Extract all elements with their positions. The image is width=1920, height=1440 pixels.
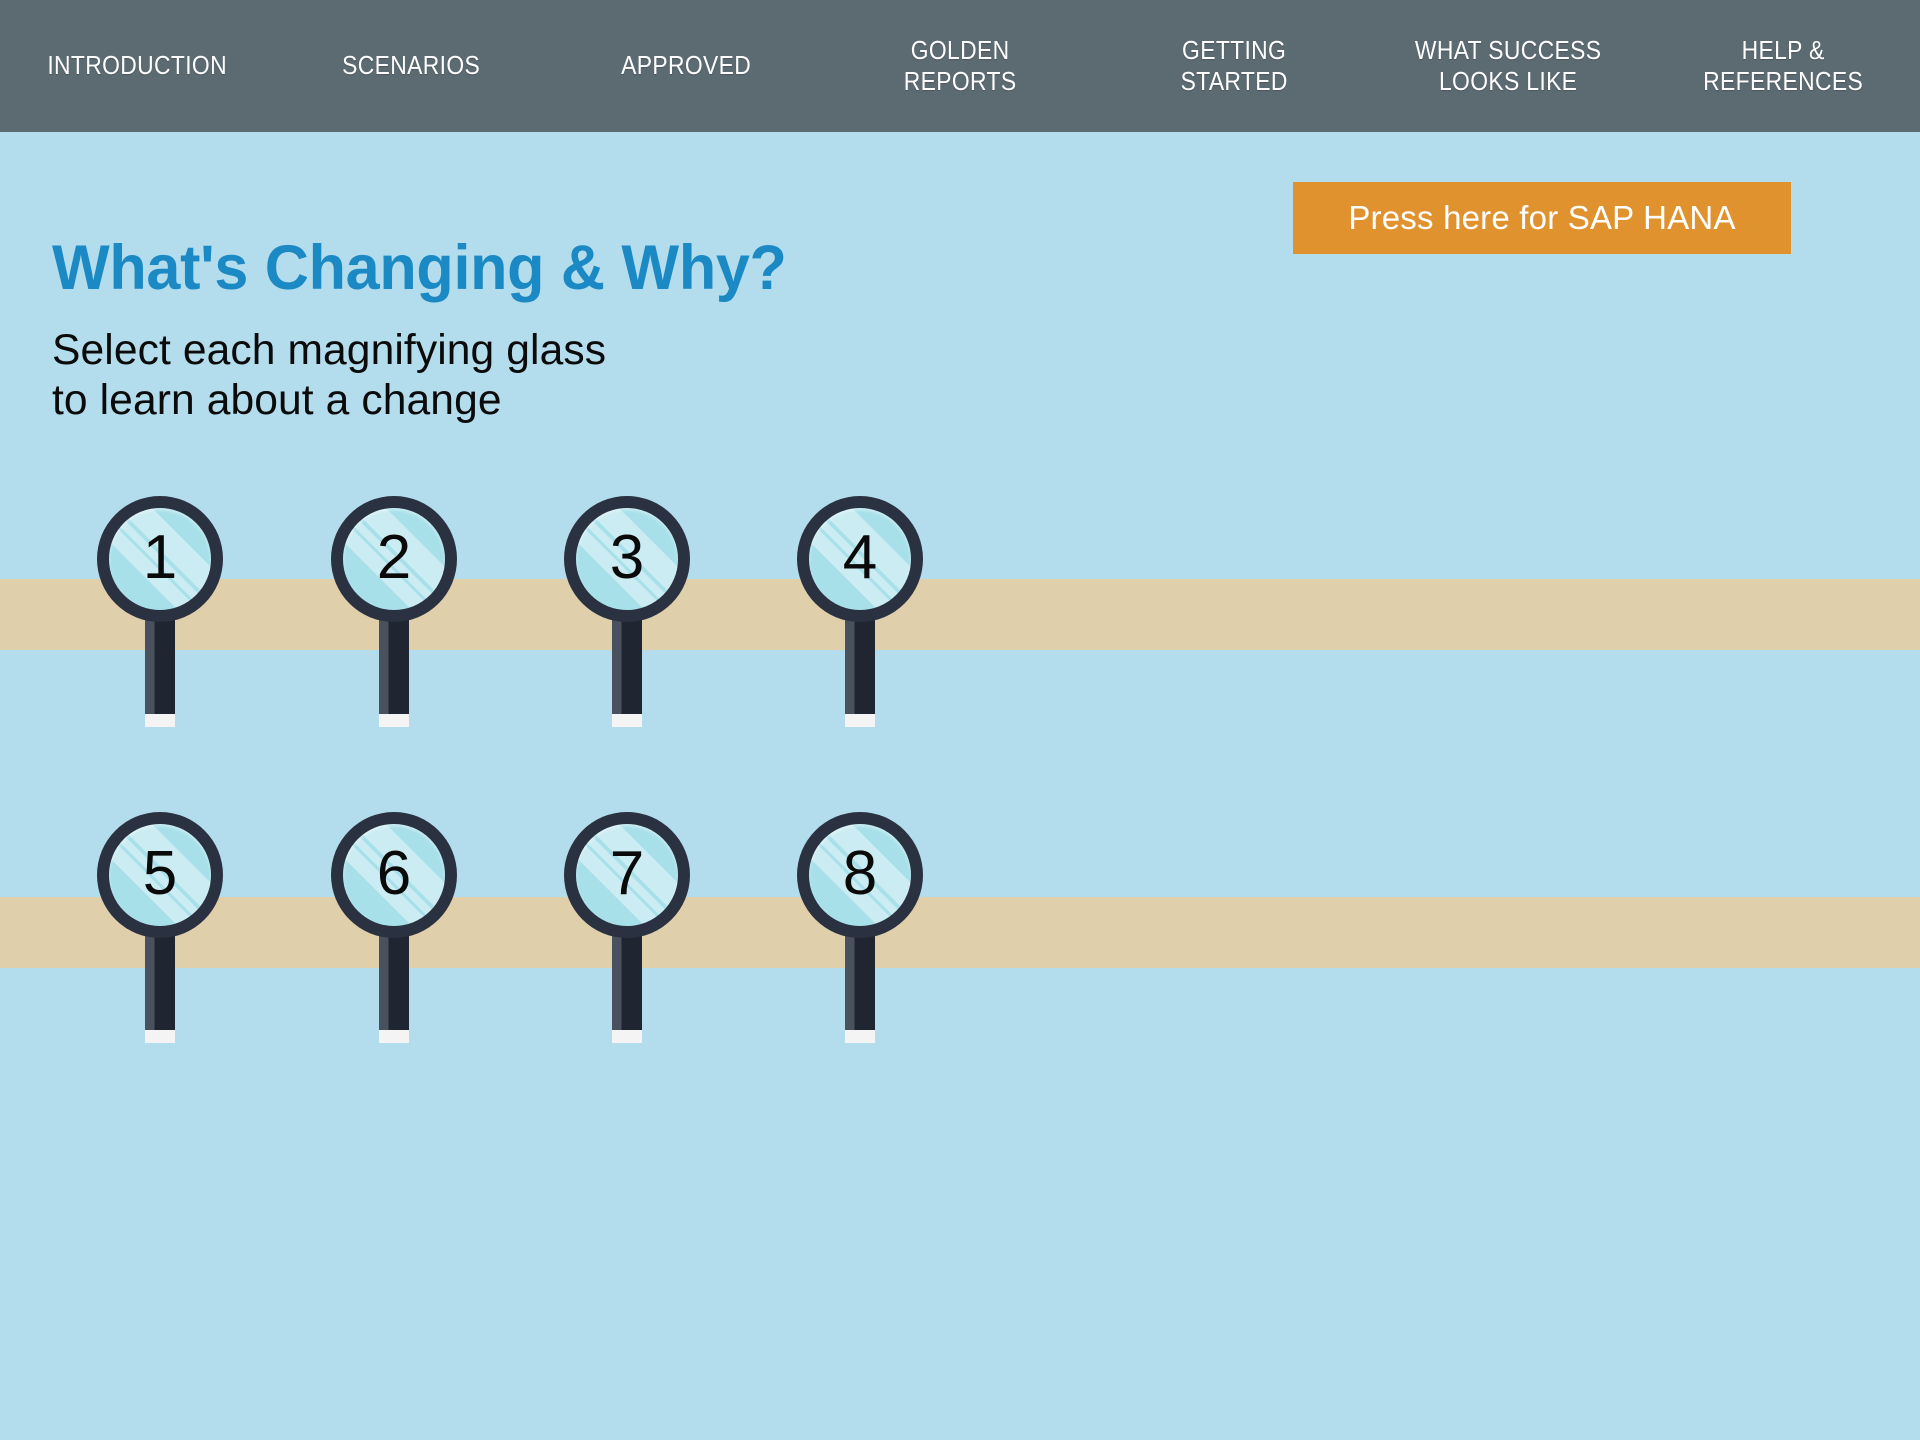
magnifier-ring: 6 [331, 812, 457, 938]
magnifier-handle-tip [379, 714, 409, 727]
magnifier-ring: 5 [97, 812, 223, 938]
magnifier-handle [145, 614, 175, 727]
magnifier-ring: 8 [797, 812, 923, 938]
magnifier-handle-tip [145, 1030, 175, 1043]
magnifying-glass-3[interactable]: 3 [564, 496, 690, 746]
magnifying-glass-2[interactable]: 2 [331, 496, 457, 746]
magnifying-glass-5[interactable]: 5 [97, 812, 223, 1062]
magnifier-handle [845, 614, 875, 727]
magnifier-ring: 4 [797, 496, 923, 622]
magnifying-glass-1[interactable]: 1 [97, 496, 223, 746]
page-title: What's Changing & Why? [52, 236, 787, 300]
decorative-band-lower [0, 897, 1920, 968]
magnifier-lens: 3 [576, 508, 678, 610]
magnifier-handle [379, 930, 409, 1043]
magnifier-handle [845, 930, 875, 1043]
magnifier-lens: 5 [109, 824, 211, 926]
magnifier-lens: 4 [809, 508, 911, 610]
magnifier-number-label: 1 [109, 508, 211, 610]
magnifying-glass-7[interactable]: 7 [564, 812, 690, 1062]
nav-item-help-references[interactable]: HELP & REFERENCES [1662, 35, 1903, 96]
magnifier-number-label: 8 [809, 824, 911, 926]
magnifier-handle-tip [379, 1030, 409, 1043]
magnifier-handle [145, 930, 175, 1043]
magnifier-number-label: 4 [809, 508, 911, 610]
press-here-for-sap-hana-button[interactable]: Press here for SAP HANA [1293, 182, 1791, 254]
magnifier-ring: 3 [564, 496, 690, 622]
magnifying-glass-4[interactable]: 4 [797, 496, 923, 746]
page-subtitle: Select each magnifying glass to learn ab… [52, 326, 802, 426]
magnifier-ring: 1 [97, 496, 223, 622]
nav-item-approved[interactable]: APPROVED [565, 50, 806, 82]
decorative-band-upper [0, 579, 1920, 650]
magnifier-handle-tip [612, 1030, 642, 1043]
magnifier-handle-tip [612, 714, 642, 727]
magnifier-number-label: 3 [576, 508, 678, 610]
nav-item-what-success-looks-like[interactable]: WHAT SUCCESS LOOKS LIKE [1388, 35, 1629, 96]
magnifier-handle [612, 930, 642, 1043]
nav-item-scenarios[interactable]: SCENARIOS [291, 50, 532, 82]
magnifier-ring: 2 [331, 496, 457, 622]
magnifier-lens: 7 [576, 824, 678, 926]
magnifier-handle [612, 614, 642, 727]
magnifier-ring: 7 [564, 812, 690, 938]
magnifier-number-label: 2 [343, 508, 445, 610]
magnifier-lens: 2 [343, 508, 445, 610]
top-navigation-bar: INTRODUCTION SCENARIOS APPROVED GOLDEN R… [0, 0, 1920, 132]
magnifying-glass-6[interactable]: 6 [331, 812, 457, 1062]
magnifier-lens: 1 [109, 508, 211, 610]
nav-item-getting-started[interactable]: GETTING STARTED [1114, 35, 1355, 96]
magnifier-handle-tip [145, 714, 175, 727]
magnifying-glass-8[interactable]: 8 [797, 812, 923, 1062]
nav-item-introduction[interactable]: INTRODUCTION [16, 50, 257, 82]
magnifier-handle-tip [845, 1030, 875, 1043]
nav-item-golden-reports[interactable]: GOLDEN REPORTS [839, 35, 1080, 96]
heading-block: What's Changing & Why? Select each magni… [52, 236, 809, 426]
magnifier-handle [379, 614, 409, 727]
magnifier-lens: 6 [343, 824, 445, 926]
magnifier-lens: 8 [809, 824, 911, 926]
magnifier-number-label: 7 [576, 824, 678, 926]
magnifier-number-label: 5 [109, 824, 211, 926]
magnifier-number-label: 6 [343, 824, 445, 926]
magnifier-handle-tip [845, 714, 875, 727]
